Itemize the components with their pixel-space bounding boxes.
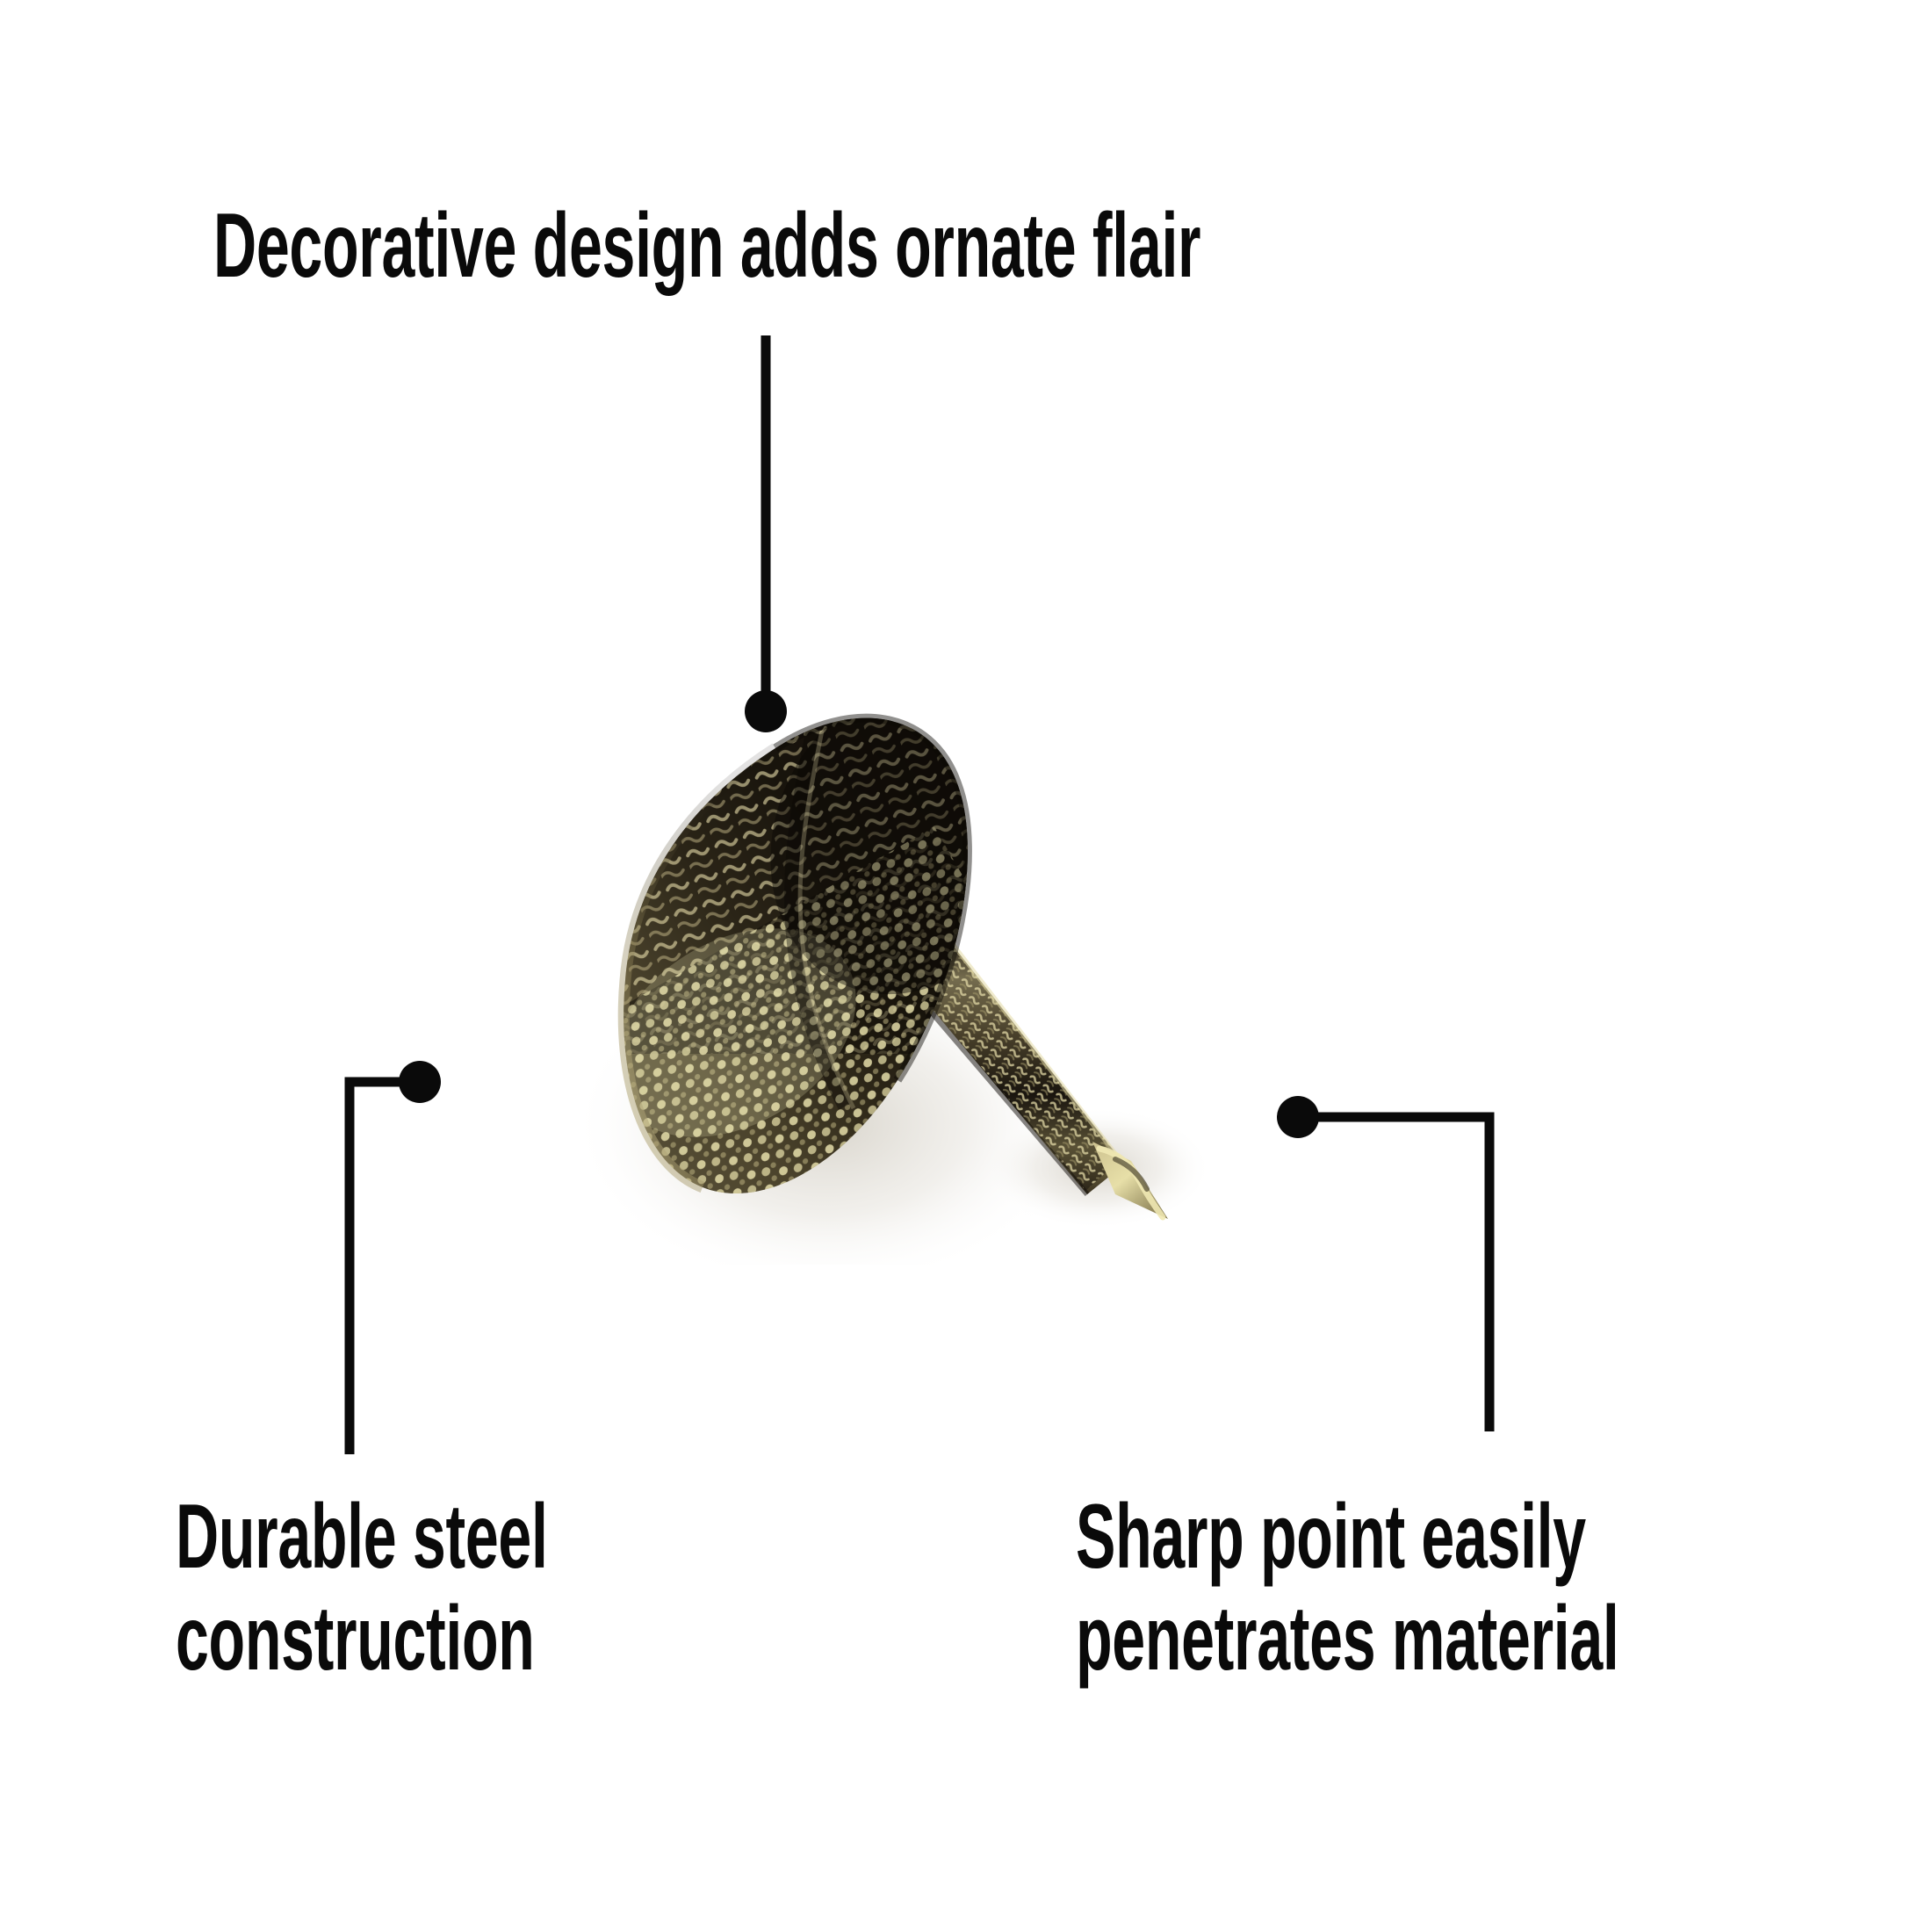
infographic-canvas: Decorative design adds ornate flair Dura… xyxy=(0,0,1932,1932)
callout-label-durable-steel: Durable steel construction xyxy=(176,1486,866,1690)
leader-line-left xyxy=(350,1082,407,1454)
callout-label-decorative-design: Decorative design adds ornate flair xyxy=(213,195,1536,297)
callout-label-sharp-point: Sharp point easily penetrates material xyxy=(1076,1486,1932,1690)
product-image-decorative-upholstery-tack xyxy=(562,667,1440,1265)
tack-illustration xyxy=(562,667,1440,1265)
leader-dot-left xyxy=(399,1061,441,1103)
